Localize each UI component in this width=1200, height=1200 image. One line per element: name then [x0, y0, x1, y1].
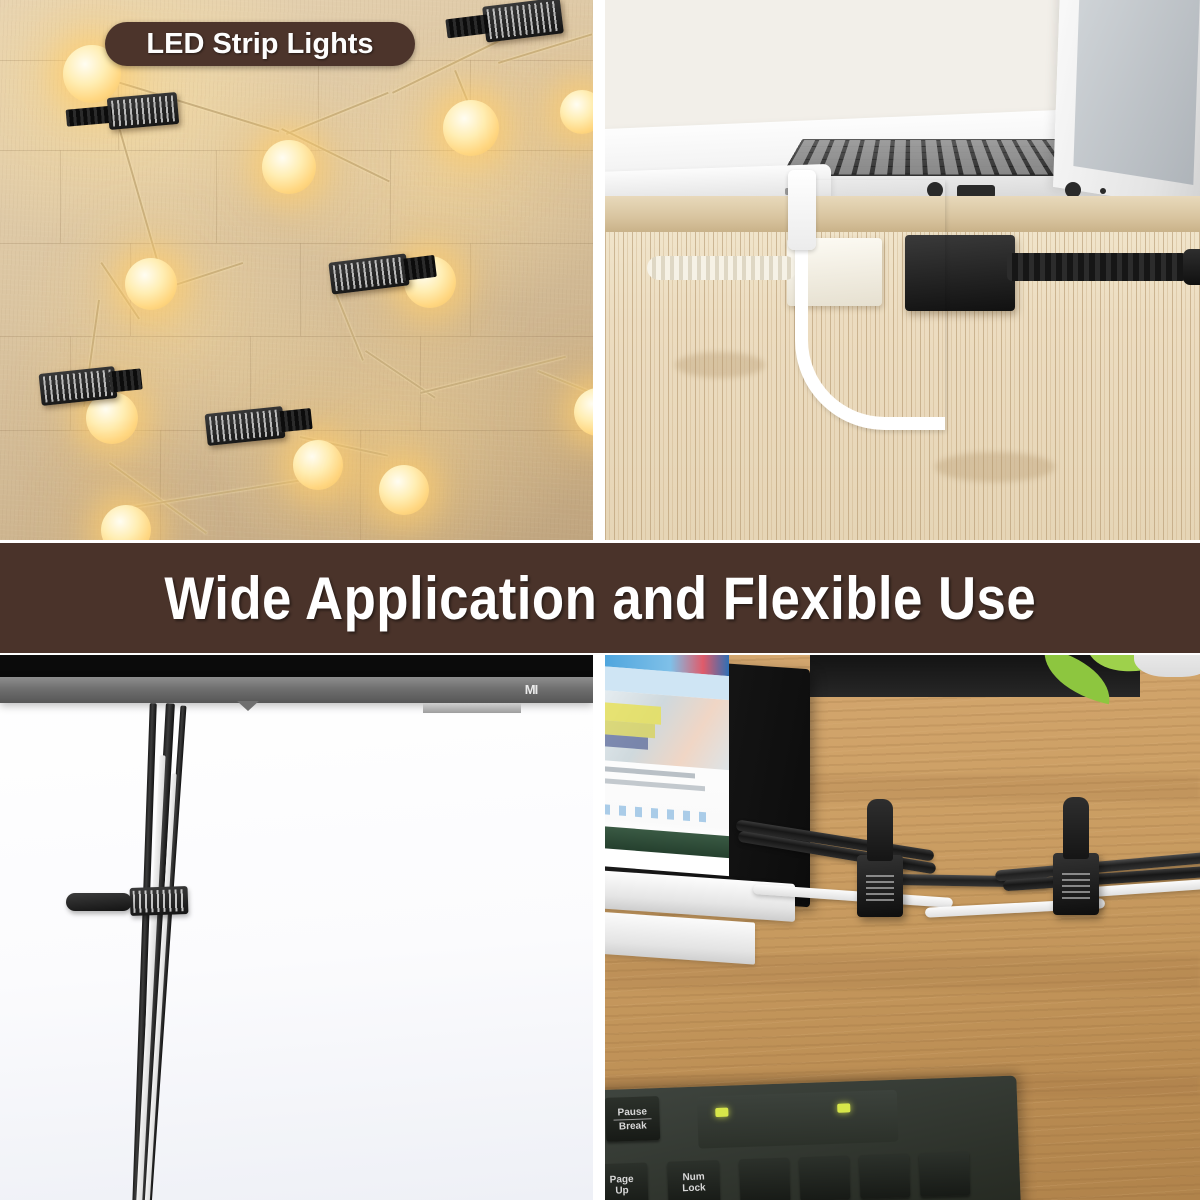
cable-clip: [1053, 853, 1099, 915]
headline-banner: Wide Application and Flexible Use: [0, 543, 1200, 653]
indicator-panel: [697, 1090, 899, 1149]
product-feature-collage: LED Strip Lights Desk Wire: [0, 0, 1200, 1200]
led-bulb: [379, 465, 429, 515]
tv-bottom-bezel: [0, 677, 593, 703]
keyboard: Pause Break Page Up Num Lock: [605, 1076, 1021, 1200]
key-label-top: Page: [610, 1174, 634, 1186]
panel-desk-wire-management: Desk Wire Management: [605, 0, 1200, 540]
key-label-bottom: Up: [615, 1185, 629, 1196]
led-bulb: [293, 440, 343, 490]
white-wall-background: [0, 655, 593, 1200]
key-pause-break[interactable]: Pause Break: [605, 1096, 660, 1142]
key-blank[interactable]: [919, 1151, 971, 1197]
charging-cable: [795, 180, 945, 430]
lightning-connector: [788, 170, 816, 250]
scroll-lock-led: [837, 1103, 850, 1112]
monitor-screen: [605, 655, 729, 876]
key-blank[interactable]: [799, 1155, 851, 1200]
label-text: LED Strip Lights: [146, 28, 373, 61]
led-bulb: [262, 140, 316, 194]
cable-clip: [107, 92, 180, 130]
panel-led-strip-lights: LED Strip Lights: [0, 0, 593, 540]
key-label-top: Num: [682, 1171, 705, 1183]
cable-clip-strap: [66, 893, 132, 911]
cable-clip: [130, 886, 189, 916]
cable-clip: [857, 855, 903, 917]
headline-text: Wide Application and Flexible Use: [164, 564, 1036, 633]
laptop-screen: [1073, 0, 1200, 185]
key-page-up[interactable]: Page Up: [605, 1162, 649, 1200]
label-led-strip-lights: LED Strip Lights: [105, 22, 415, 66]
led-bulb: [125, 258, 177, 310]
key-blank[interactable]: [859, 1153, 911, 1199]
led-bulb: [443, 100, 499, 156]
panel-entertainment-center: MI: [0, 655, 593, 1200]
taskbar: [605, 826, 729, 858]
key-label-bottom: Lock: [682, 1182, 706, 1194]
key-label-bottom: Break: [619, 1120, 647, 1132]
indicator-led: [1100, 188, 1106, 194]
tv-stand-neck: [423, 703, 521, 713]
mi-logo: MI: [521, 680, 541, 698]
key-num-lock[interactable]: Num Lock: [667, 1160, 721, 1200]
caps-lock-led: [715, 1108, 728, 1117]
key-label-top: Pause: [617, 1106, 647, 1118]
panel-office-cabling: Pause Break Page Up Num Lock Office Cabl…: [605, 655, 1200, 1200]
plant-decoration: [1030, 655, 1200, 711]
key-blank[interactable]: [739, 1158, 791, 1200]
